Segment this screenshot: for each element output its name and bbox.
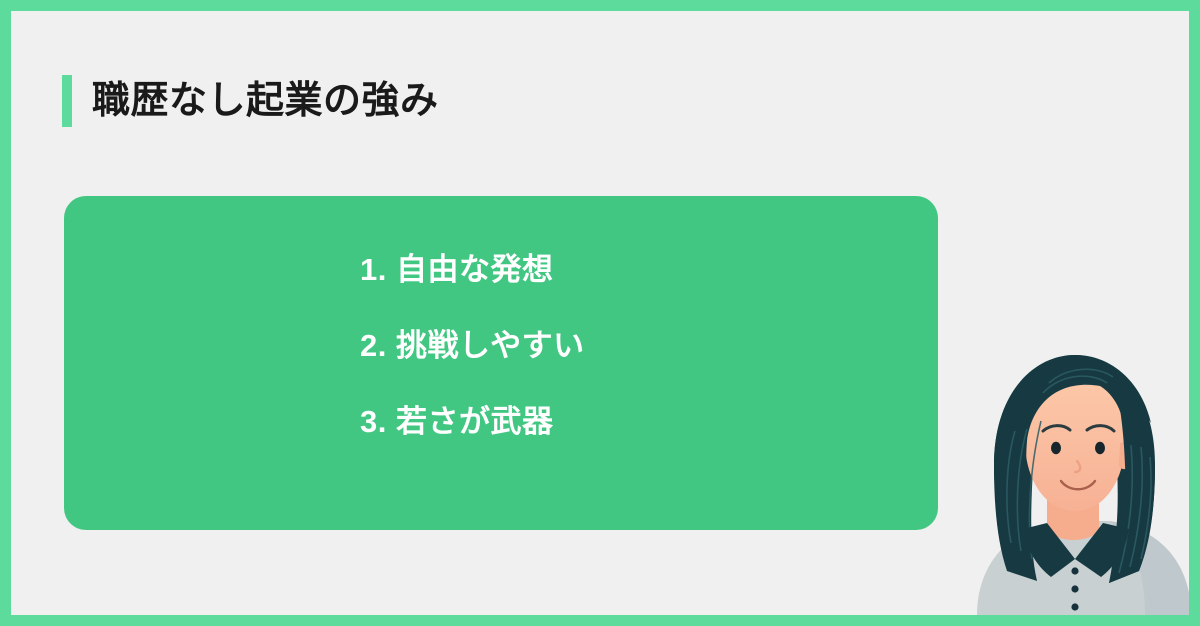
slide-inner-canvas: 職歴なし起業の強み 1. 自由な発想 2. 挑戦しやすい 3. 若さが武器: [11, 11, 1189, 615]
list-item: 3. 若さが武器: [360, 406, 585, 437]
title-accent-bar: [62, 75, 72, 127]
points-list: 1. 自由な発想 2. 挑戦しやすい 3. 若さが武器: [360, 254, 585, 437]
blouse-button: [1071, 567, 1078, 574]
content-card: 1. 自由な発想 2. 挑戦しやすい 3. 若さが武器: [64, 196, 938, 530]
blouse-button: [1071, 585, 1078, 592]
title-row: 職歴なし起業の強み: [62, 75, 439, 127]
eye-left: [1051, 442, 1061, 454]
blouse-button: [1071, 603, 1078, 610]
list-item: 1. 自由な発想: [360, 254, 585, 285]
slide-frame: 職歴なし起業の強み 1. 自由な発想 2. 挑戦しやすい 3. 若さが武器: [0, 0, 1200, 626]
page-title: 職歴なし起業の強み: [92, 75, 439, 127]
list-item: 2. 挑戦しやすい: [360, 330, 585, 361]
woman-avatar-illustration: [959, 345, 1189, 615]
eye-right: [1095, 442, 1105, 454]
